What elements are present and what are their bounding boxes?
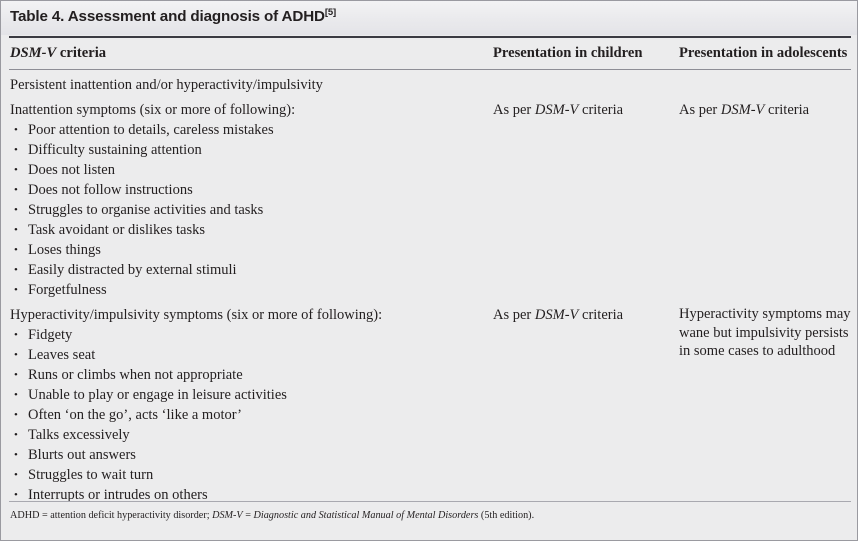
adolescents-inattention-italic: DSM-V bbox=[721, 102, 765, 118]
list-item: Does not follow instructions bbox=[10, 182, 193, 199]
column-header-criteria-rest: criteria bbox=[56, 45, 106, 61]
children-inattention-italic: DSM-V bbox=[535, 102, 579, 118]
footnote-italic-2: Diagnostic and Statistical Manual of Men… bbox=[254, 510, 479, 521]
rule-top bbox=[9, 36, 851, 38]
table-title: Table 4. Assessment and diagnosis of ADH… bbox=[10, 8, 336, 25]
column-header-criteria-italic: DSM-V bbox=[10, 45, 56, 61]
rule-footnote-top bbox=[9, 501, 851, 502]
list-item: Talks excessively bbox=[10, 427, 130, 444]
list-item: Leaves seat bbox=[10, 347, 95, 364]
row-children-hyperactivity: As per DSM-V criteria bbox=[493, 307, 623, 324]
table-title-text: Table 4. Assessment and diagnosis of ADH… bbox=[10, 8, 325, 25]
row-heading-hyperactivity: Hyperactivity/impulsivity symptoms (six … bbox=[10, 307, 382, 324]
column-header-children: Presentation in children bbox=[493, 45, 642, 62]
row-adolescents-hyperactivity: Hyperactivity symptoms may wane but impu… bbox=[679, 305, 851, 361]
list-item: Poor attention to details, careless mist… bbox=[10, 122, 274, 139]
table-figure: Table 4. Assessment and diagnosis of ADH… bbox=[0, 0, 858, 541]
row-heading-inattention: Inattention symptoms (six or more of fol… bbox=[10, 102, 295, 119]
list-item: Struggles to wait turn bbox=[10, 467, 153, 484]
row-adolescents-inattention: As per DSM-V criteria bbox=[679, 102, 809, 119]
children-inattention-prefix: As per bbox=[493, 102, 535, 118]
children-hyperactivity-suffix: criteria bbox=[578, 307, 623, 323]
adolescents-inattention-suffix: criteria bbox=[764, 102, 809, 118]
table-footnote: ADHD = attention deficit hyperactivity d… bbox=[10, 509, 534, 522]
footnote-italic-1: DSM-V bbox=[212, 510, 243, 521]
list-item: Runs or climbs when not appropriate bbox=[10, 367, 243, 384]
rule-header-bottom bbox=[9, 69, 851, 70]
column-header-criteria: DSM-V criteria bbox=[10, 45, 106, 62]
list-item: Easily distracted by external stimuli bbox=[10, 262, 237, 279]
table-title-reference: [5] bbox=[325, 7, 336, 18]
footnote-part-1: ADHD = attention deficit hyperactivity d… bbox=[10, 510, 212, 521]
list-item: Struggles to organise activities and tas… bbox=[10, 202, 263, 219]
row-children-inattention: As per DSM-V criteria bbox=[493, 102, 623, 119]
list-item: Loses things bbox=[10, 242, 101, 259]
list-item: Does not listen bbox=[10, 162, 115, 179]
children-hyperactivity-prefix: As per bbox=[493, 307, 535, 323]
list-item: Difficulty sustaining attention bbox=[10, 142, 202, 159]
list-item: Unable to play or engage in leisure acti… bbox=[10, 387, 287, 404]
children-hyperactivity-italic: DSM-V bbox=[535, 307, 579, 323]
list-item: Often ‘on the go’, acts ‘like a motor’ bbox=[10, 407, 242, 424]
children-inattention-suffix: criteria bbox=[578, 102, 623, 118]
footnote-part-3: (5th edition). bbox=[478, 510, 534, 521]
row-heading-persistent: Persistent inattention and/or hyperactiv… bbox=[10, 77, 323, 94]
adolescents-inattention-prefix: As per bbox=[679, 102, 721, 118]
column-header-adolescents: Presentation in adolescents bbox=[679, 45, 847, 62]
list-item: Task avoidant or dislikes tasks bbox=[10, 222, 205, 239]
list-item: Blurts out answers bbox=[10, 447, 136, 464]
footnote-part-2: = bbox=[243, 510, 254, 521]
list-item: Fidgety bbox=[10, 327, 72, 344]
list-item: Forgetfulness bbox=[10, 282, 107, 299]
